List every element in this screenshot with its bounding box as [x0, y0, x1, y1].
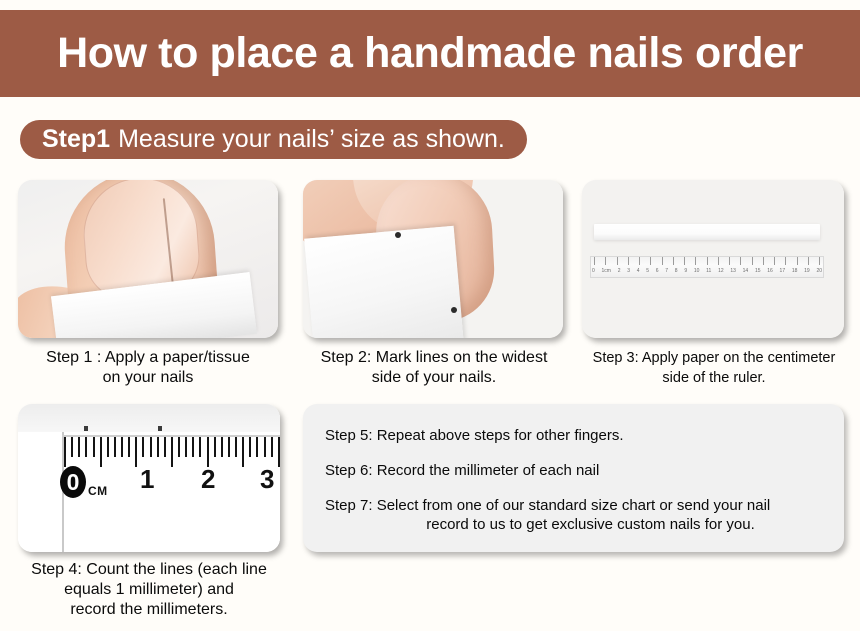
step6-line: Step 6: Record the millimeter of each na…	[325, 461, 824, 480]
ruler-tick	[242, 437, 244, 467]
long-ruler-number: 8	[675, 267, 678, 277]
step4-caption-line1: Step 4: Count the lines (each line	[10, 560, 288, 580]
long-ruler-number: 6	[656, 267, 659, 277]
long-ruler-number: 11	[706, 267, 711, 277]
step4-caption-line2: equals 1 millimeter) and	[10, 580, 288, 600]
long-ruler-tick	[628, 257, 629, 265]
long-ruler-ticks	[591, 257, 823, 266]
fingers-holding-marked-paper-photo	[303, 180, 563, 338]
paper-strip-shape	[594, 224, 820, 240]
long-ruler-tick	[718, 257, 719, 265]
long-ruler-shape: 01cm234567891011121314151617181920	[590, 256, 824, 278]
ruler-tick	[235, 437, 237, 457]
step2-caption-line1: Step 2: Mark lines on the widest	[296, 348, 572, 368]
step1-caption: Step 1 : Apply a paper/tissue on your na…	[10, 348, 286, 388]
long-ruler-number: 13	[730, 267, 736, 277]
step1-description: Measure your nails’ size as shown.	[118, 127, 505, 152]
ruler-tick	[121, 437, 123, 457]
long-ruler-tick	[594, 257, 595, 265]
long-ruler-tick	[774, 257, 775, 265]
pencil-mark-icon	[158, 426, 162, 431]
ruler-tick	[171, 437, 173, 467]
long-ruler-number: 12	[718, 267, 724, 277]
step7-line: Step 7: Select from one of our standard …	[325, 496, 824, 534]
ruler-mark-3: 3	[260, 466, 274, 492]
ruler-tick	[192, 437, 194, 457]
step4-caption: Step 4: Count the lines (each line equal…	[10, 560, 288, 620]
ruler-closeup-photo: 0 CM 1 2 3	[18, 404, 280, 552]
long-ruler-number: 0	[592, 267, 595, 277]
ruler-tick	[164, 437, 166, 457]
step7-text: Step 7: Select from one of our standard …	[325, 497, 770, 514]
step1-caption-line2: on your nails	[10, 368, 286, 388]
ruler-tick	[185, 437, 187, 457]
step3-caption: Step 3: Apply paper on the centimeter si…	[575, 348, 853, 388]
long-ruler-number: 19	[804, 267, 810, 277]
step1-photo-card	[18, 180, 278, 338]
ruler-upper-band	[18, 404, 280, 432]
long-ruler-tick	[673, 257, 674, 265]
long-ruler-tick	[617, 257, 618, 265]
white-paper-shape	[304, 226, 464, 338]
page-title: How to place a handmade nails order	[57, 32, 803, 75]
ruler-tick	[199, 437, 201, 457]
step1-banner: Step1 Measure your nails’ size as shown.	[20, 120, 527, 159]
long-ruler-tick	[740, 257, 741, 265]
long-ruler-tick	[707, 257, 708, 265]
long-ruler-tick	[605, 257, 606, 265]
step2-caption-line2: side of your nails.	[296, 368, 572, 388]
ruler-tick	[85, 437, 87, 457]
ruler-tick	[93, 437, 95, 457]
step3-photo-card: 01cm234567891011121314151617181920	[582, 180, 844, 338]
ruler-unit-label: CM	[88, 484, 108, 498]
ruler-tick	[128, 437, 130, 457]
ruler-tick	[150, 437, 152, 457]
header-bar: How to place a handmade nails order	[0, 10, 860, 97]
mark-dot-icon	[395, 232, 401, 238]
ruler-closeup-ticks	[64, 437, 280, 467]
step5-text: Step 5: Repeat above steps for other fin…	[325, 427, 624, 444]
ruler-tick	[64, 437, 66, 467]
ruler-tick	[78, 437, 80, 457]
ruler-tick	[107, 437, 109, 457]
step2-photo-card	[303, 180, 563, 338]
long-ruler-tick	[729, 257, 730, 265]
ruler-tick	[214, 437, 216, 457]
ruler-mark-2: 2	[201, 466, 215, 492]
step3-caption-line2: side of the ruler.	[575, 368, 853, 388]
long-ruler-number: 1cm	[602, 267, 611, 277]
long-ruler-tick	[785, 257, 786, 265]
ruler-tick	[178, 437, 180, 457]
ruler-tick	[142, 437, 144, 457]
long-ruler-number: 20	[816, 267, 822, 277]
ruler-tick	[100, 437, 102, 467]
long-ruler-tick	[639, 257, 640, 265]
long-ruler-number: 2	[618, 267, 621, 277]
step1-label: Step1	[42, 127, 110, 152]
long-ruler-number: 9	[684, 267, 687, 277]
ruler-tick	[256, 437, 258, 457]
long-ruler-number: 18	[792, 267, 798, 277]
step4-caption-line3: record the millimeters.	[10, 600, 288, 620]
long-ruler-tick	[650, 257, 651, 265]
long-ruler-number: 14	[743, 267, 749, 277]
long-ruler-tick	[797, 257, 798, 265]
ruler-tick	[271, 437, 273, 457]
ruler-tick	[249, 437, 251, 457]
ruler-tick	[207, 437, 209, 467]
mark-dot-icon	[451, 307, 457, 313]
long-ruler-number: 16	[767, 267, 773, 277]
ruler-tick	[221, 437, 223, 457]
ruler-tick	[157, 437, 159, 457]
long-ruler-number: 3	[627, 267, 630, 277]
ruler-tick	[228, 437, 230, 457]
step4-photo-card: 0 CM 1 2 3	[18, 404, 280, 552]
paper-strip-on-ruler-photo: 01cm234567891011121314151617181920	[582, 180, 844, 338]
ruler-tick	[135, 437, 137, 467]
long-ruler-tick	[763, 257, 764, 265]
long-ruler-number: 17	[780, 267, 786, 277]
step6-text: Step 6: Record the millimeter of each na…	[325, 462, 599, 479]
long-ruler-number: 15	[755, 267, 761, 277]
ruler-tick	[264, 437, 266, 457]
fingertip-with-paper-tissue-photo	[18, 180, 278, 338]
steps-text-panel: Step 5: Repeat above steps for other fin…	[303, 404, 844, 552]
ruler-tick	[278, 437, 280, 467]
long-ruler-tick	[808, 257, 809, 265]
long-ruler-number: 4	[637, 267, 640, 277]
long-ruler-tick	[684, 257, 685, 265]
long-ruler-numbers: 01cm234567891011121314151617181920	[591, 267, 823, 277]
long-ruler-tick	[752, 257, 753, 265]
long-ruler-number: 10	[694, 267, 700, 277]
long-ruler-tick	[819, 257, 820, 265]
step2-caption: Step 2: Mark lines on the widest side of…	[296, 348, 572, 388]
ruler-tick	[71, 437, 73, 457]
ruler-tick	[114, 437, 116, 457]
long-ruler-number: 5	[646, 267, 649, 277]
pencil-mark-icon	[84, 426, 88, 431]
ruler-mark-1: 1	[140, 466, 154, 492]
step1-caption-line1: Step 1 : Apply a paper/tissue	[10, 348, 286, 368]
step5-line: Step 5: Repeat above steps for other fin…	[325, 426, 824, 445]
long-ruler-number: 7	[665, 267, 668, 277]
long-ruler-tick	[662, 257, 663, 265]
step3-caption-line1: Step 3: Apply paper on the centimeter	[575, 348, 853, 368]
long-ruler-tick	[695, 257, 696, 265]
step7-text-continuation: record to us to get exclusive custom nai…	[325, 515, 824, 534]
ruler-zero-label: 0	[60, 466, 86, 498]
